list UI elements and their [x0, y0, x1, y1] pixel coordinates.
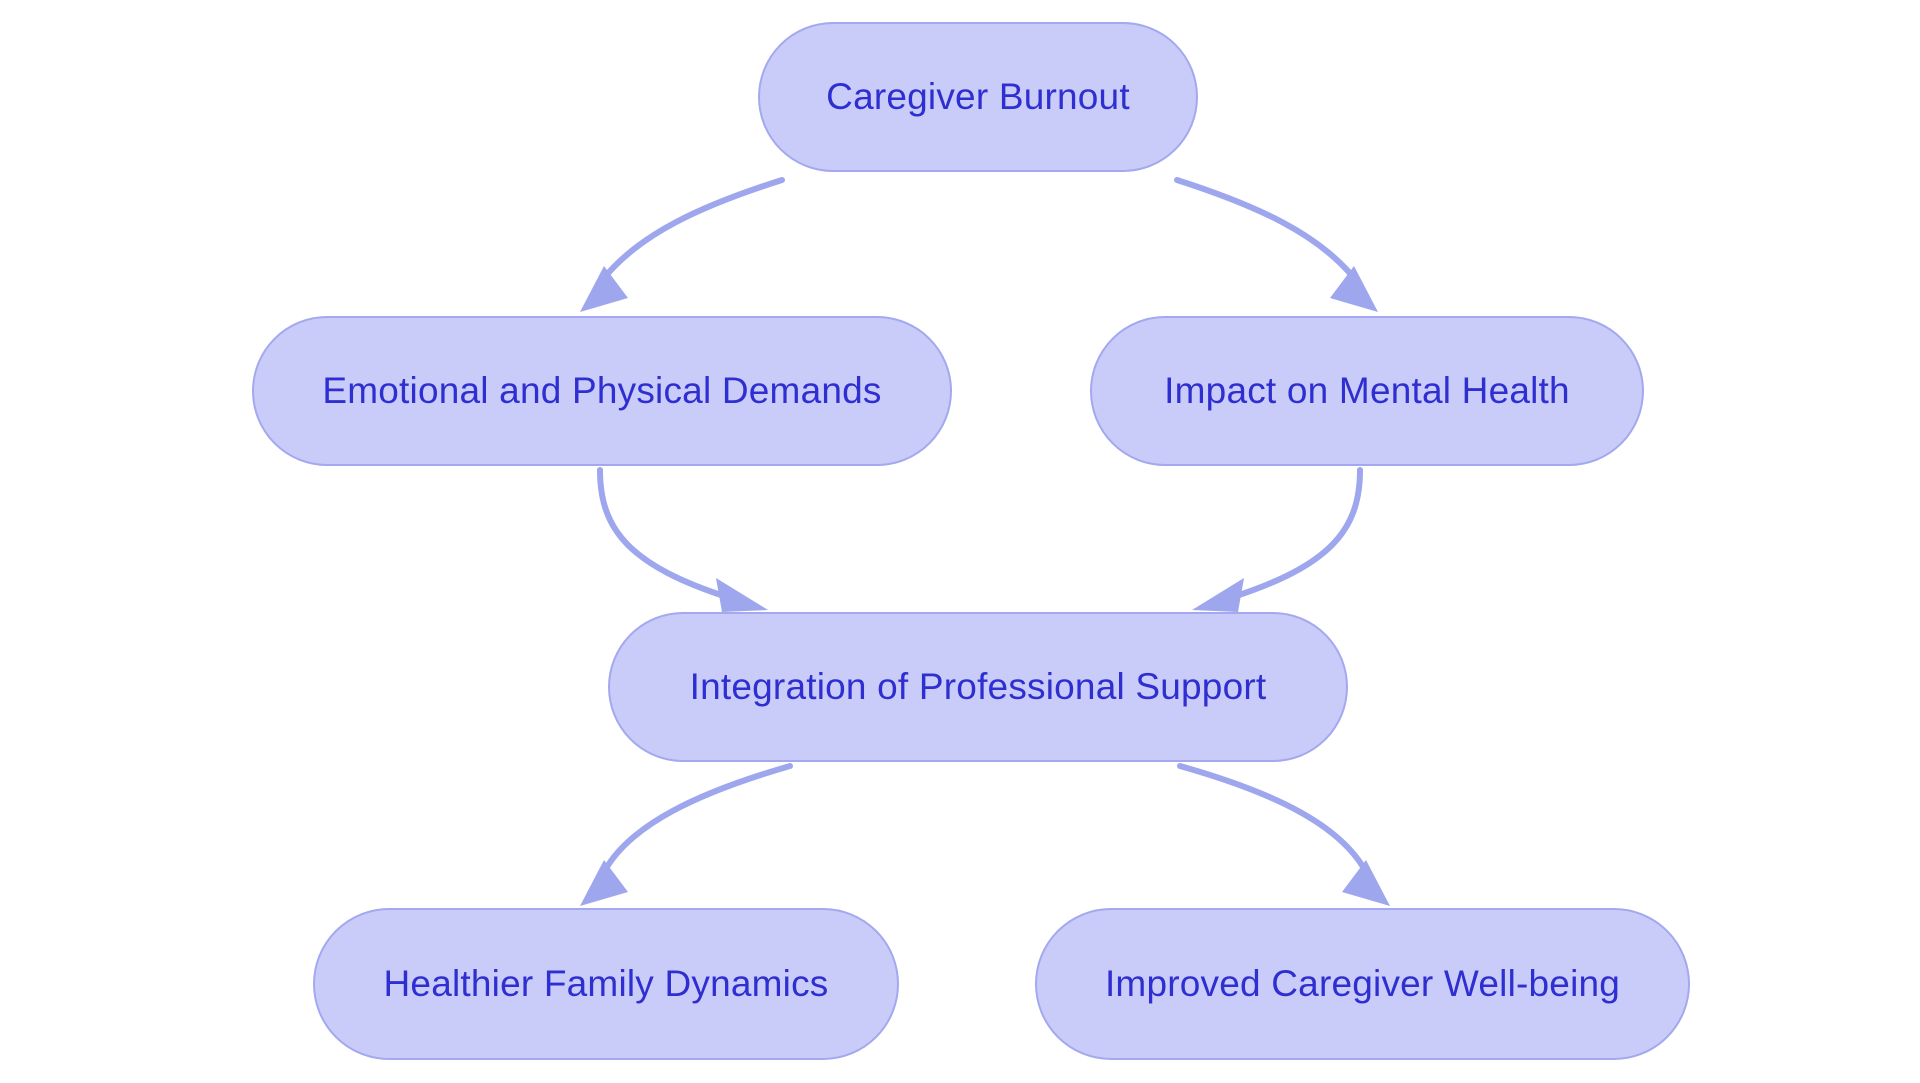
edge-support-to-wellbeing: [1180, 766, 1390, 906]
arrowhead-icon: [580, 266, 628, 312]
node-label: Integration of Professional Support: [690, 666, 1267, 709]
node-healthier-family-dynamics[interactable]: Healthier Family Dynamics: [313, 908, 899, 1060]
node-label: Improved Caregiver Well-being: [1105, 963, 1620, 1006]
node-integration-of-professional-support[interactable]: Integration of Professional Support: [608, 612, 1348, 762]
node-improved-caregiver-well-being[interactable]: Improved Caregiver Well-being: [1035, 908, 1690, 1060]
arrowhead-icon: [1330, 266, 1378, 312]
flowchart-canvas: Caregiver Burnout Emotional and Physical…: [0, 0, 1920, 1083]
node-label: Caregiver Burnout: [826, 76, 1130, 119]
node-impact-on-mental-health[interactable]: Impact on Mental Health: [1090, 316, 1644, 466]
node-label: Emotional and Physical Demands: [322, 370, 881, 413]
edge-burnout-to-mental: [1177, 180, 1378, 312]
edge-burnout-to-demands: [580, 180, 782, 312]
node-label: Impact on Mental Health: [1164, 370, 1570, 413]
node-label: Healthier Family Dynamics: [384, 963, 829, 1006]
node-emotional-and-physical-demands[interactable]: Emotional and Physical Demands: [252, 316, 952, 466]
arrowhead-icon: [1192, 578, 1244, 612]
edge-demands-to-support: [600, 470, 768, 612]
edge-mental-to-support: [1192, 470, 1360, 612]
arrowhead-icon: [580, 860, 628, 906]
node-caregiver-burnout[interactable]: Caregiver Burnout: [758, 22, 1198, 172]
edge-support-to-family: [580, 766, 790, 906]
arrowhead-icon: [716, 578, 768, 612]
arrowhead-icon: [1342, 860, 1390, 906]
